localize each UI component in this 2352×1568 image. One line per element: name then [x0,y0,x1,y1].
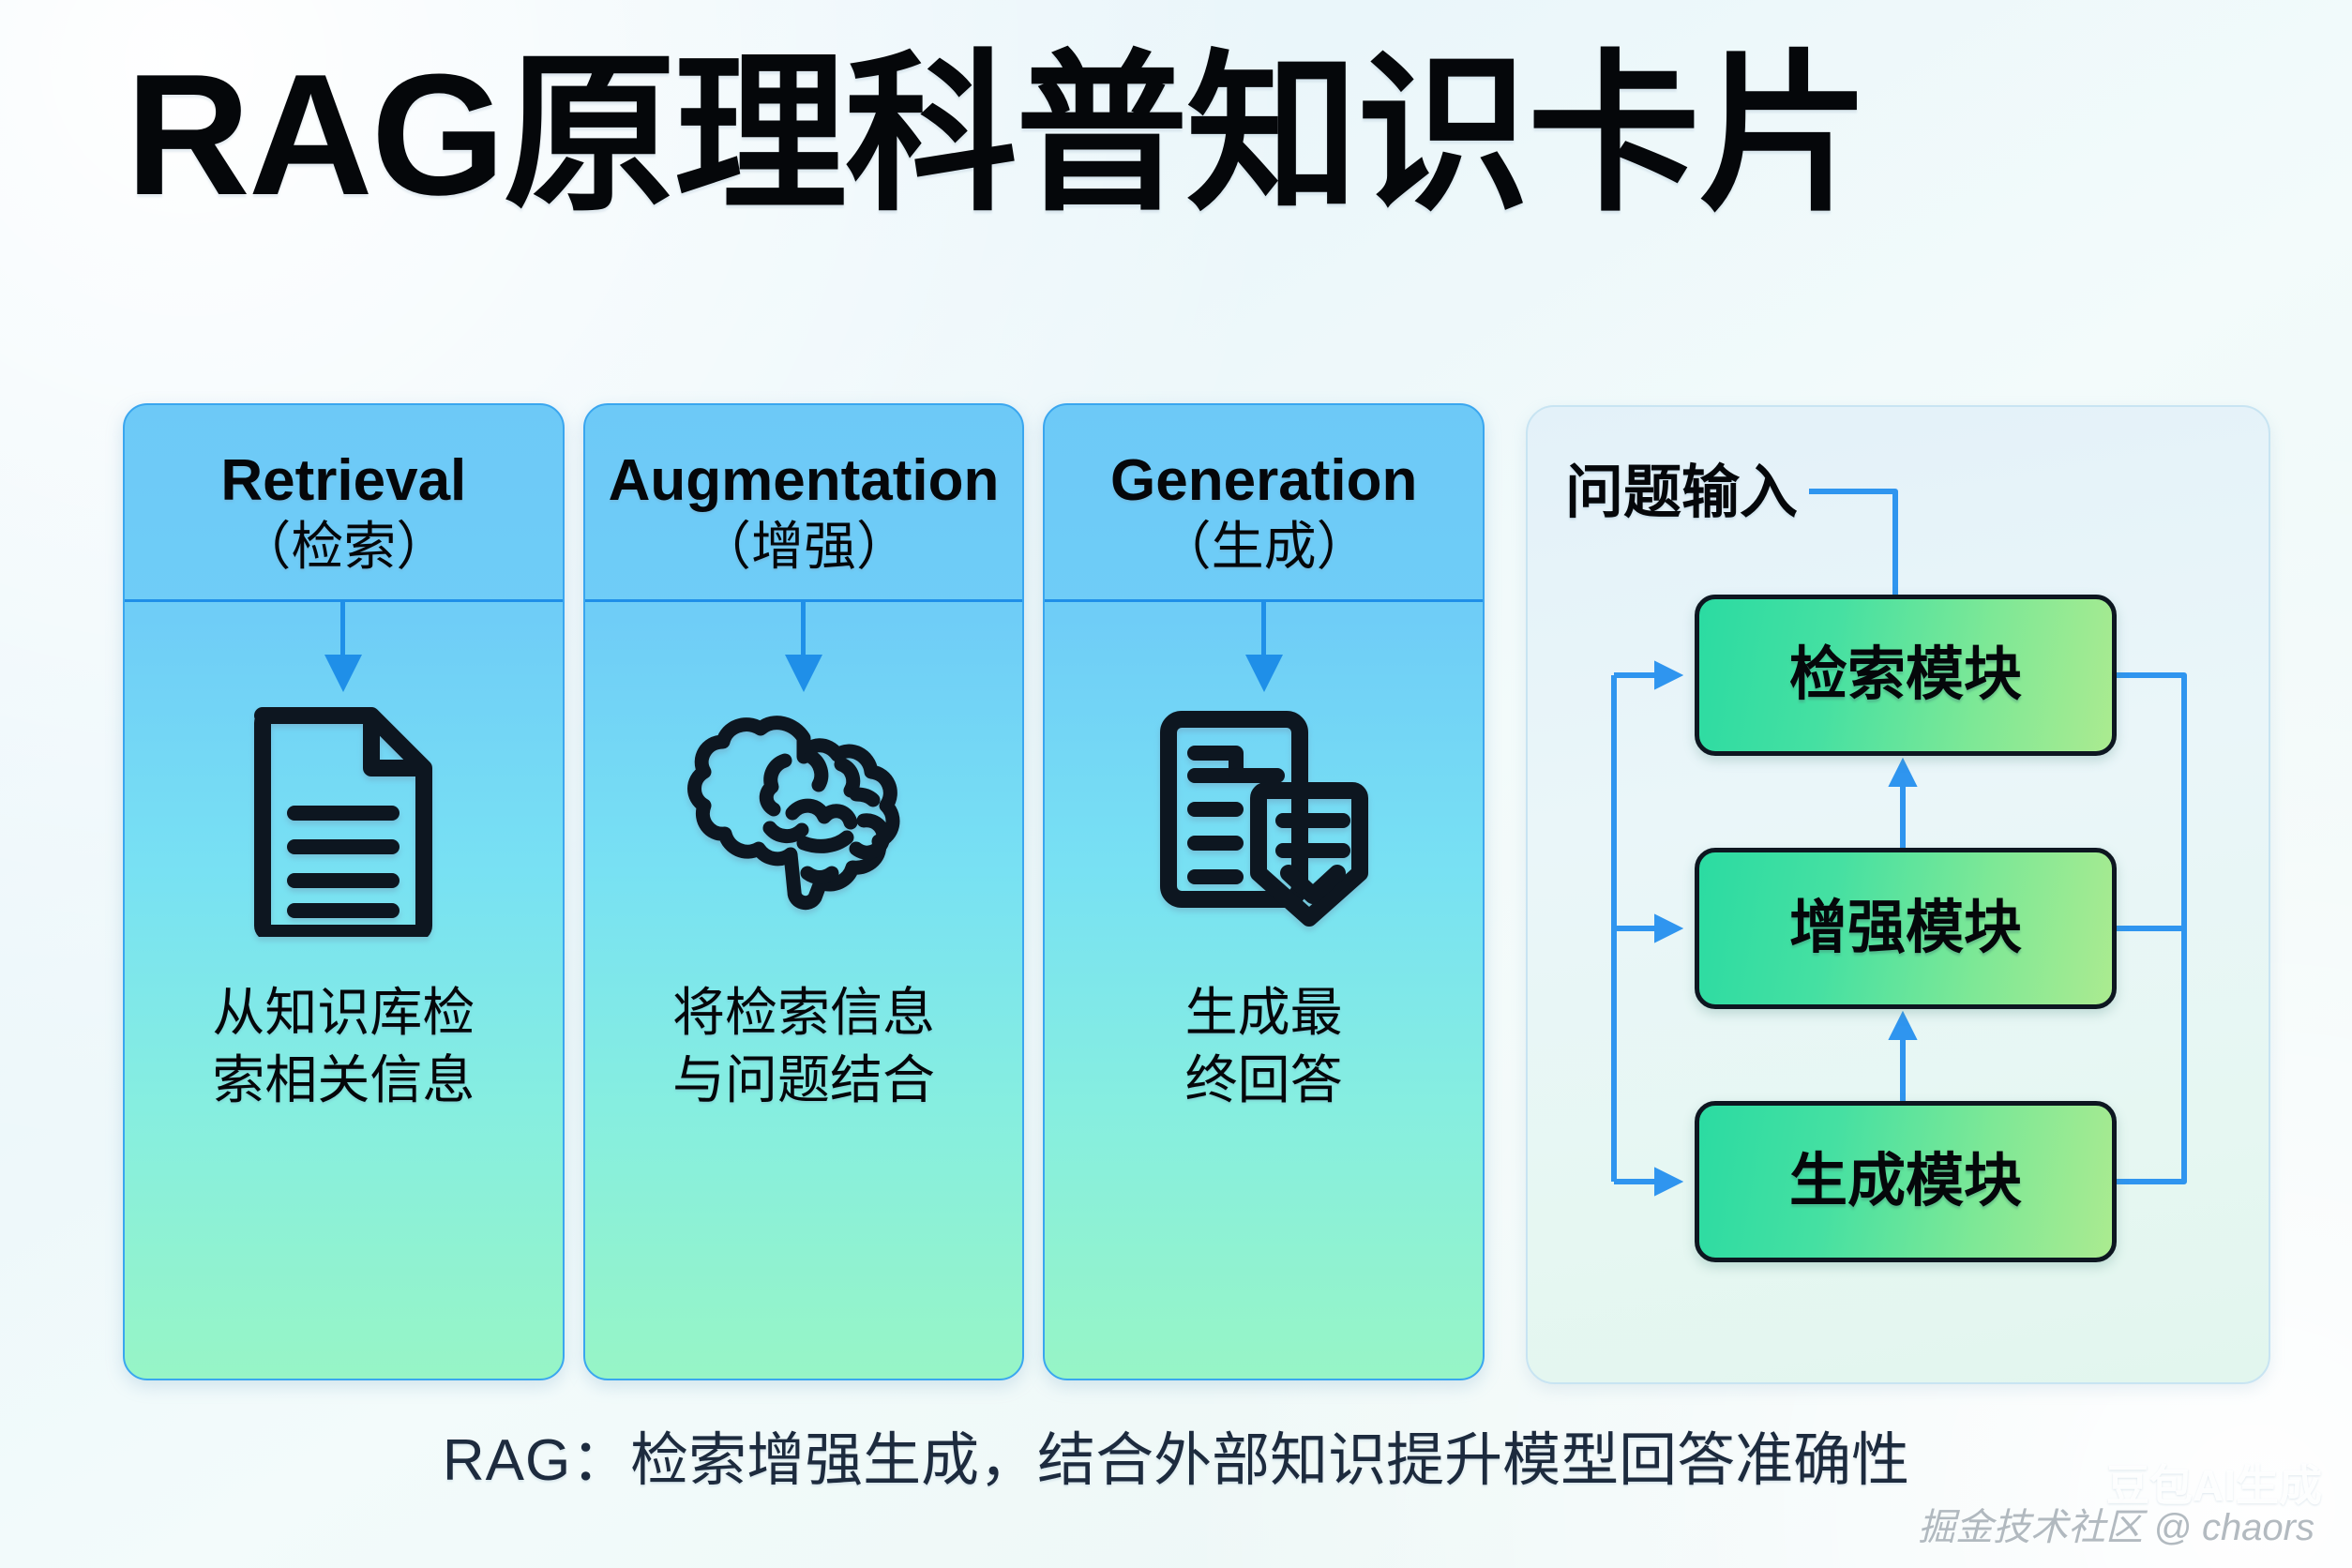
concept-card-augmentation[interactable]: Augmentation （增强） [583,403,1025,1380]
card-description: 将检索信息 与问题结合 [672,979,935,1114]
card-desc-line: 终回答 [1185,1047,1343,1114]
card-header: Retrieval （检索） [125,405,563,602]
card-desc-line: 索相关信息 [212,1047,475,1114]
caption-text: 检索增强生成，结合外部知识提升模型回答准确性 [630,1428,1909,1493]
flow-box-retrieval[interactable]: 检索模块 [1695,595,2117,756]
card-header: Augmentation （增强） [585,405,1023,602]
arrow-down-icon [785,602,822,690]
flow-box-label: 检索模块 [1789,642,2022,708]
card-body: 从知识库检 索相关信息 [125,602,563,1379]
caption: RAG：检索增强生成，结合外部知识提升模型回答准确性 [0,1425,2352,1497]
watermark-author: 掘金技术社区 @ chaors [1918,1506,2314,1549]
concept-card-retrieval[interactable]: Retrieval （检索） 从知识库检 索相关信息 [123,403,565,1380]
arrow-down-icon [324,602,362,690]
rag-flow-panel: 问题输入 检索模块 增强模块 生成模块 [1526,405,2270,1384]
card-desc-line: 从知识库检 [212,979,475,1047]
card-body: 将检索信息 与问题结合 [585,602,1023,1379]
card-desc-line: 将检索信息 [672,979,935,1047]
page-title: RAG原理科普知识卡片 [126,45,2264,223]
flow-box-generation[interactable]: 生成模块 [1695,1101,2117,1262]
flow-box-label: 增强模块 [1789,896,2022,961]
watermark-brand: 豆包AI生成 [2106,1461,2322,1510]
card-description: 从知识库检 索相关信息 [212,979,475,1114]
concept-card-generation[interactable]: Generation （生成） [1043,403,1485,1380]
card-title-en: Generation [1110,448,1417,514]
concept-cards-row: Retrieval （检索） 从知识库检 索相关信息 [123,403,1485,1380]
brain-icon [676,703,931,938]
card-title-cn: （检索） [238,514,448,580]
flow-input-label: 问题输入 [1565,460,1798,527]
connector-input-to-retrieval [1809,491,1895,595]
card-header: Generation （生成） [1045,405,1483,602]
card-desc-line: 与问题结合 [672,1047,935,1114]
card-description: 生成最 终回答 [1185,979,1343,1114]
document-badge-check-icon [1150,703,1379,938]
card-title-en: Augmentation [609,448,1000,514]
flow-box-label: 生成模块 [1789,1149,2022,1214]
card-title-cn: （生成） [1159,514,1369,580]
card-desc-line: 生成最 [1185,979,1343,1047]
caption-prefix: RAG： [443,1428,630,1493]
card-title-en: Retrieval [220,448,466,514]
card-body: 生成最 终回答 [1045,602,1483,1379]
arrow-down-icon [1245,602,1283,690]
flow-box-augmentation[interactable]: 增强模块 [1695,848,2117,1009]
document-lines-icon [244,703,443,938]
card-title-cn: （增强） [699,514,909,580]
